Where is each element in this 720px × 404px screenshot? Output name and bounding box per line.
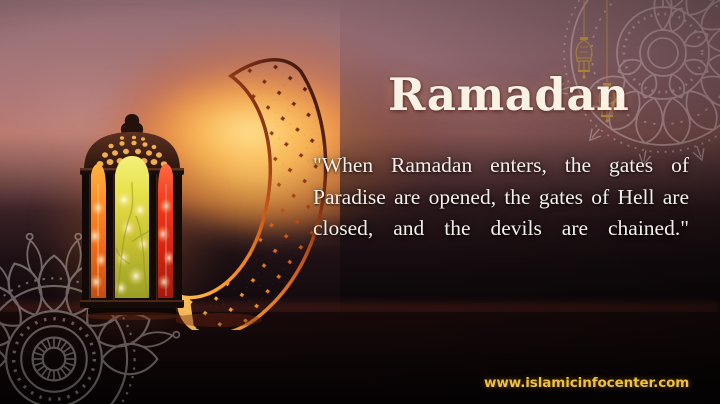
page-title: Ramadan xyxy=(388,72,629,117)
ramadan-greeting-image: Ramadan "When Ramadan enters, the gates … xyxy=(0,0,720,404)
website-url[interactable]: www.islamicinfocenter.com xyxy=(484,375,689,391)
crescent-moon-icon xyxy=(176,58,336,330)
ramadan-lantern-icon xyxy=(76,112,188,320)
hadith-quote-text: "When Ramadan enters, the gates of Parad… xyxy=(313,150,689,276)
